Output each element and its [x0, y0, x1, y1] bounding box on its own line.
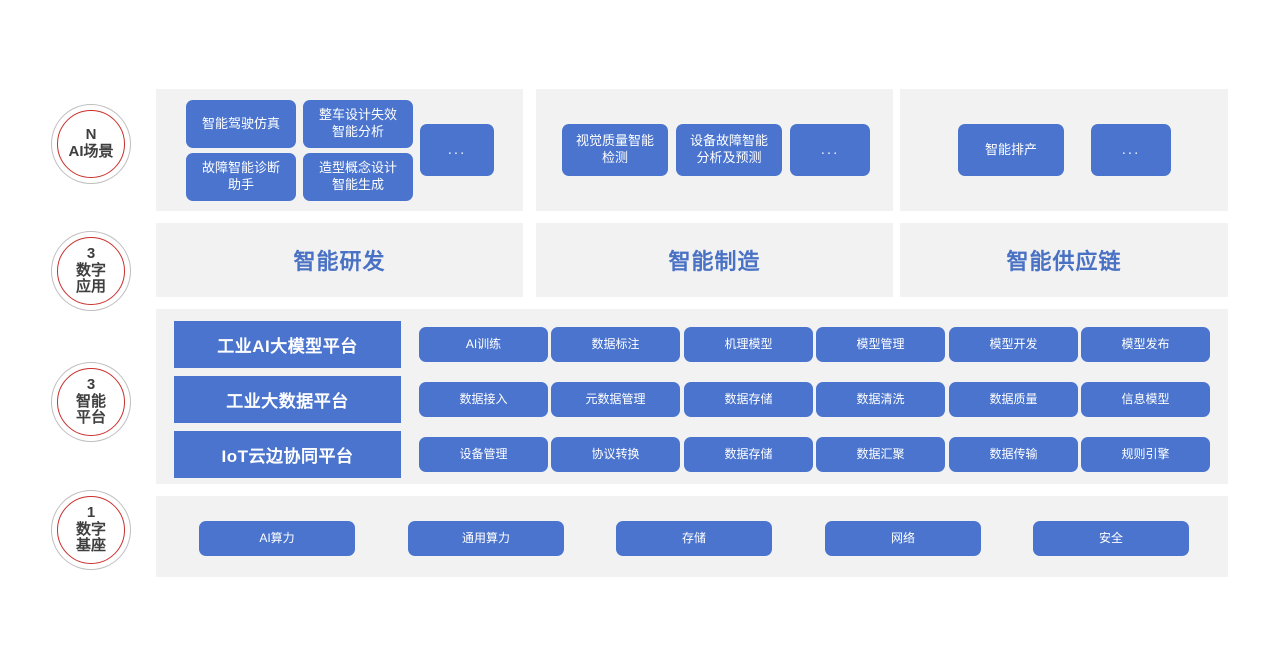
architecture-diagram: N AI场景 3 数字 应用 3 智能 平台 1 数字 基座 智能驾驶仿真 整车… [0, 0, 1267, 667]
application-panel-manufacturing[interactable]: 智能制造 [536, 223, 893, 297]
platform-capability[interactable]: 信息模型 [1081, 382, 1210, 417]
tier-label-line: 应用 [76, 279, 106, 296]
platform-capability[interactable]: 数据标注 [551, 327, 680, 362]
foundation-item[interactable]: 安全 [1033, 521, 1189, 556]
scenario-card-label: 设备故障智能 分析及预测 [690, 133, 768, 167]
tier-count: 3 [87, 246, 95, 263]
platform-capability[interactable]: 数据汇聚 [816, 437, 945, 472]
scenario-panel-supplychain [900, 89, 1228, 211]
platform-name-iot[interactable]: IoT云边协同平台 [174, 431, 401, 478]
platform-capability[interactable]: 模型管理 [816, 327, 945, 362]
platform-capability[interactable]: 数据传输 [949, 437, 1078, 472]
tier-label-line: 智能 [76, 394, 106, 411]
tier-label-line: 基座 [76, 538, 106, 555]
platform-capability[interactable]: 协议转换 [551, 437, 680, 472]
application-title: 智能研发 [156, 223, 523, 297]
platform-capability[interactable]: 模型发布 [1081, 327, 1210, 362]
foundation-item[interactable]: 存储 [616, 521, 772, 556]
platform-capability[interactable]: 数据清洗 [816, 382, 945, 417]
foundation-item[interactable]: 网络 [825, 521, 981, 556]
tier-badge-inner: N AI场景 [57, 110, 125, 178]
scenario-card[interactable]: 故障智能诊断 助手 [186, 153, 296, 201]
tier-badge-digital-foundation: 1 数字 基座 [51, 490, 131, 570]
scenario-more-button[interactable]: ... [1091, 124, 1171, 176]
platform-capability[interactable]: 元数据管理 [551, 382, 680, 417]
tier-count: N [86, 127, 97, 144]
tier-badge-digital-application: 3 数字 应用 [51, 231, 131, 311]
platform-capability[interactable]: 数据接入 [419, 382, 548, 417]
tier-badge-ai-scenario: N AI场景 [51, 104, 131, 184]
scenario-card[interactable]: 整车设计失效 智能分析 [303, 100, 413, 148]
application-title: 智能供应链 [900, 223, 1228, 297]
application-panel-supplychain[interactable]: 智能供应链 [900, 223, 1228, 297]
scenario-card[interactable]: 视觉质量智能 检测 [562, 124, 668, 176]
scenario-card[interactable]: 设备故障智能 分析及预测 [676, 124, 782, 176]
platform-capability[interactable]: 数据存储 [684, 437, 813, 472]
application-panel-rnd[interactable]: 智能研发 [156, 223, 523, 297]
scenario-card-label: 智能排产 [985, 142, 1037, 159]
foundation-item[interactable]: AI算力 [199, 521, 355, 556]
tier-badge-inner: 1 数字 基座 [57, 496, 125, 564]
scenario-card-label: 视觉质量智能 检测 [576, 133, 654, 167]
platform-capability[interactable]: AI训练 [419, 327, 548, 362]
scenario-card[interactable]: 智能驾驶仿真 [186, 100, 296, 148]
platform-capability[interactable]: 机理模型 [684, 327, 813, 362]
scenario-more-button[interactable]: ... [420, 124, 494, 176]
tier-badge-inner: 3 智能 平台 [57, 368, 125, 436]
scenario-card[interactable]: 智能排产 [958, 124, 1064, 176]
platform-name-bigdata[interactable]: 工业大数据平台 [174, 376, 401, 423]
application-title: 智能制造 [536, 223, 893, 297]
platform-capability[interactable]: 规则引擎 [1081, 437, 1210, 472]
tier-label-line: 数字 [76, 522, 106, 539]
platform-name-ai-model[interactable]: 工业AI大模型平台 [174, 321, 401, 368]
platform-capability[interactable]: 数据质量 [949, 382, 1078, 417]
tier-badge-smart-platform: 3 智能 平台 [51, 362, 131, 442]
scenario-card[interactable]: 造型概念设计 智能生成 [303, 153, 413, 201]
tier-count: 3 [87, 377, 95, 394]
tier-label-line: 数字 [76, 263, 106, 280]
tier-label-line: 平台 [76, 410, 106, 427]
tier-badge-inner: 3 数字 应用 [57, 237, 125, 305]
foundation-item[interactable]: 通用算力 [408, 521, 564, 556]
platform-capability[interactable]: 数据存储 [684, 382, 813, 417]
platform-capability[interactable]: 模型开发 [949, 327, 1078, 362]
scenario-card-label: 整车设计失效 智能分析 [319, 107, 397, 141]
scenario-more-button[interactable]: ... [790, 124, 870, 176]
tier-label-line: AI场景 [68, 144, 113, 161]
scenario-card-label: 故障智能诊断 助手 [202, 160, 280, 194]
platform-capability[interactable]: 设备管理 [419, 437, 548, 472]
scenario-card-label: 造型概念设计 智能生成 [319, 160, 397, 194]
tier-count: 1 [87, 505, 95, 522]
